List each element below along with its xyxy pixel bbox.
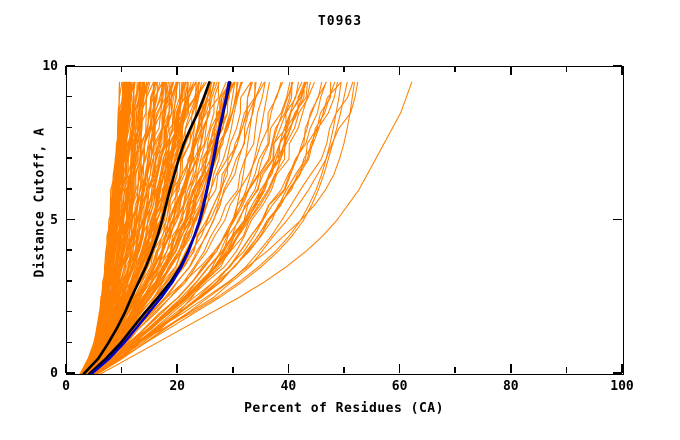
x-tick-minor-30	[232, 367, 234, 373]
y-tick-minor-2	[66, 311, 72, 313]
x-tick-top-minor-50	[343, 66, 345, 72]
plot-root: T0963 020406080100 0510 Percent of Resid…	[0, 0, 680, 440]
y-tick-major-0	[66, 372, 75, 374]
x-tick-major-20	[176, 364, 178, 373]
y-tick-minor-8	[66, 127, 72, 129]
y-tick-minor-4	[66, 249, 72, 251]
x-tick-top-major-60	[399, 66, 401, 75]
y-axis-label: Distance Cutoff, A	[33, 53, 48, 353]
x-tick-top-minor-70	[454, 66, 456, 72]
x-tick-label-60: 60	[378, 379, 422, 394]
y-tick-minor-3	[66, 280, 72, 282]
x-tick-top-minor-90	[566, 66, 568, 72]
x-tick-minor-10	[121, 367, 123, 373]
x-tick-major-80	[510, 364, 512, 373]
x-tick-label-0: 0	[44, 379, 88, 394]
y-tick-minor-6	[66, 188, 72, 190]
x-tick-label-100: 100	[600, 379, 644, 394]
y-tick-right-major-5	[613, 219, 622, 221]
x-tick-top-major-0	[65, 66, 67, 75]
x-axis-label: Percent of Residues (CA)	[66, 401, 622, 416]
y-tick-minor-9	[66, 96, 72, 98]
x-tick-minor-70	[454, 367, 456, 373]
plot-frame	[66, 66, 624, 375]
x-tick-minor-90	[566, 367, 568, 373]
x-tick-top-major-100	[621, 66, 623, 75]
curves-canvas	[67, 67, 623, 374]
y-tick-right-major-10	[613, 65, 622, 67]
x-tick-major-60	[399, 364, 401, 373]
x-tick-minor-50	[343, 367, 345, 373]
x-tick-label-80: 80	[489, 379, 533, 394]
x-tick-top-major-80	[510, 66, 512, 75]
x-tick-top-minor-10	[121, 66, 123, 72]
x-tick-top-major-40	[288, 66, 290, 75]
y-tick-minor-1	[66, 342, 72, 344]
y-tick-major-10	[66, 65, 75, 67]
y-tick-label-0: 0	[32, 366, 58, 381]
y-tick-right-major-0	[613, 372, 622, 374]
x-tick-label-40: 40	[266, 379, 310, 394]
page-title: T0963	[0, 14, 680, 29]
x-tick-top-major-20	[176, 66, 178, 75]
x-tick-label-20: 20	[155, 379, 199, 394]
y-tick-minor-7	[66, 157, 72, 159]
x-tick-top-minor-30	[232, 66, 234, 72]
x-tick-major-40	[288, 364, 290, 373]
y-tick-major-5	[66, 219, 75, 221]
